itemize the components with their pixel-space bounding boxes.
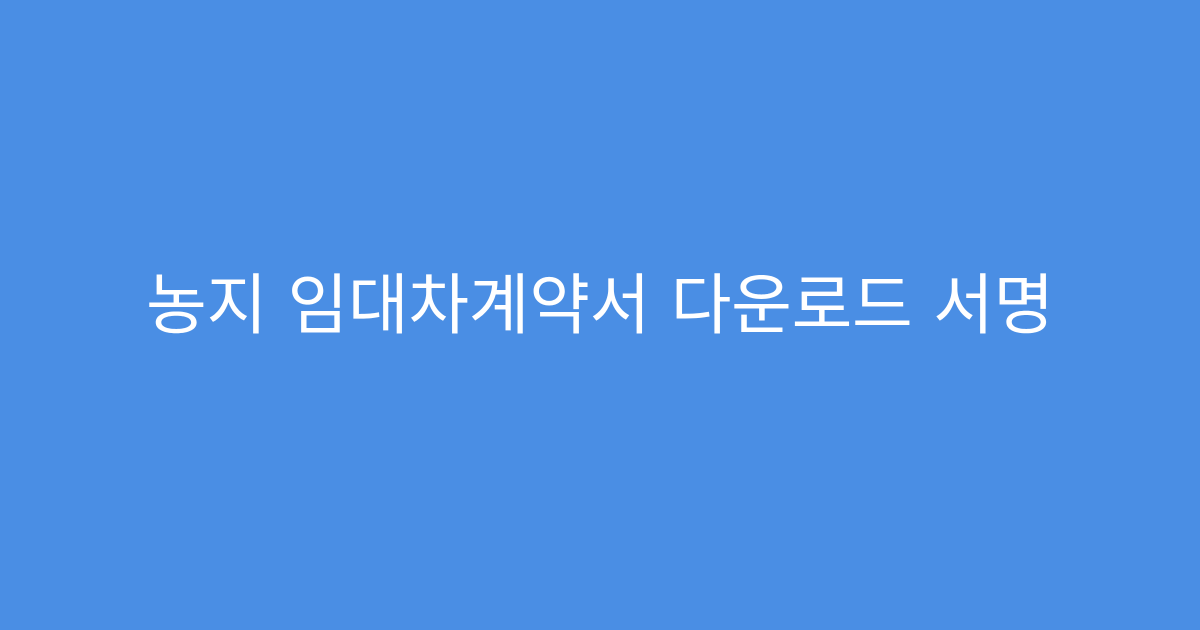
page-title: 농지 임대차계약서 다운로드 서명 xyxy=(146,269,1054,343)
headline-container: 농지 임대차계약서 다운로드 서명 xyxy=(40,269,1160,343)
og-banner-card: 농지 임대차계약서 다운로드 서명 xyxy=(0,0,1200,630)
